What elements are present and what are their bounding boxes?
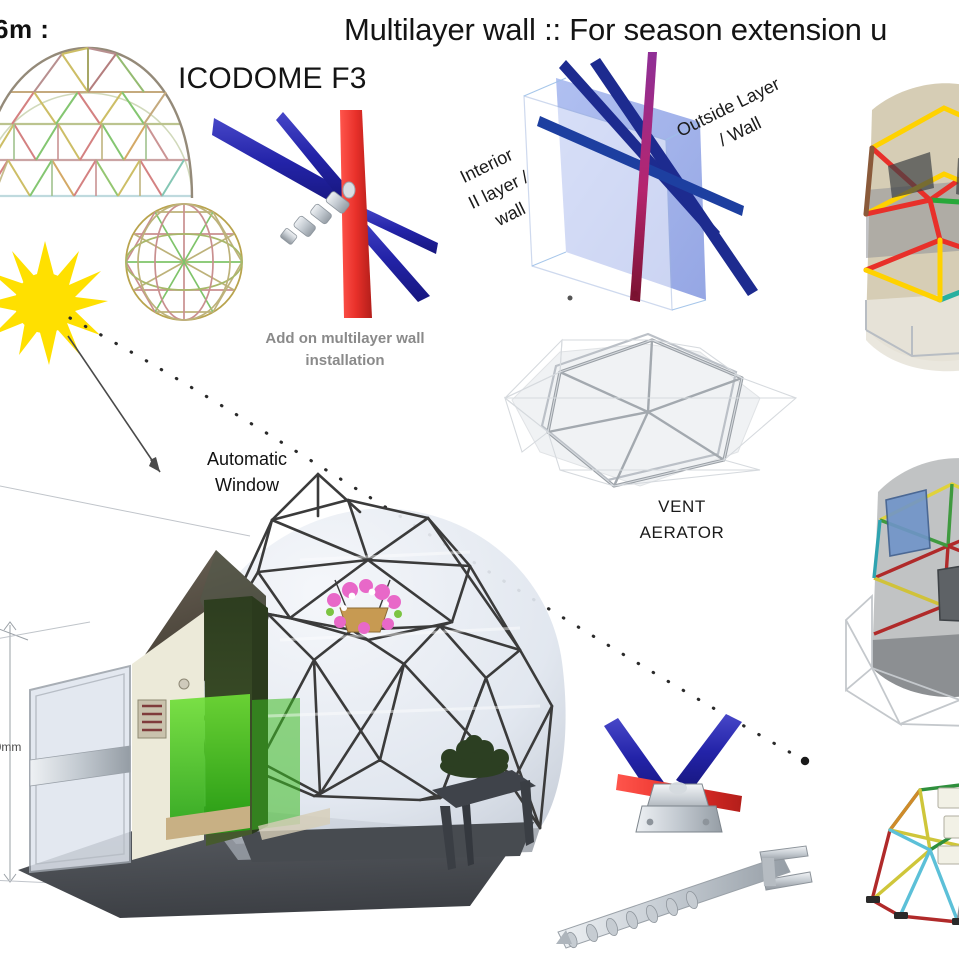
- automatic-window-line2: Window: [215, 475, 279, 495]
- product-name-label: ICODOME F3: [178, 62, 367, 96]
- dome-render-top-right-figure: [866, 83, 959, 371]
- artwork-layer: [0, 0, 959, 959]
- frame-diagram-br-figure: [866, 784, 959, 925]
- page-title: Multilayer wall :: For season extension …: [344, 12, 887, 48]
- dome-frame-elevation-figure: [0, 48, 192, 198]
- interior-layer-label: Interior II layer / wall: [452, 140, 545, 241]
- automatic-window-label: Automatic Window: [182, 446, 312, 498]
- addon-caption: Add on multilayer wall installation: [230, 328, 460, 372]
- ground-screw-anchor-figure: [556, 846, 812, 949]
- perspective-guides: [0, 484, 250, 886]
- outside-layer-label: Outside Layer / Wall: [672, 71, 796, 169]
- interior-layer-line3: wall: [492, 198, 529, 230]
- hub-connector-detail-figure: [604, 714, 742, 832]
- vent-label-line2: AERATOR: [640, 523, 725, 542]
- corner-dimension-label: 6m :: [0, 14, 49, 45]
- addon-caption-line2: installation: [305, 352, 384, 369]
- addon-caption-line1: Add on multilayer wall: [265, 330, 424, 347]
- hanging-basket: [326, 579, 402, 634]
- vent-label-line1: VENT: [658, 497, 706, 516]
- vent-aerator-wireframe-figure: [505, 334, 796, 486]
- slide-canvas: 6m : Multilayer wall :: For season exten…: [0, 0, 959, 959]
- sun-burst-figure: [0, 241, 108, 365]
- side-dimension-label: 00mm: [0, 740, 21, 754]
- sun-arrow-annotation: [68, 336, 160, 472]
- greenhouse-render-figure: [18, 474, 566, 918]
- automatic-window-line1: Automatic: [207, 449, 287, 469]
- multilayer-wall-panel-figure: [524, 52, 758, 310]
- potting-table: [432, 735, 536, 870]
- vent-aerator-label: VENT AERATOR: [597, 494, 767, 545]
- dome-render-mid-right-figure: [846, 452, 959, 726]
- geo-sphere-small-figure: [126, 204, 242, 320]
- strut-hub-rotor-figure: [212, 110, 438, 318]
